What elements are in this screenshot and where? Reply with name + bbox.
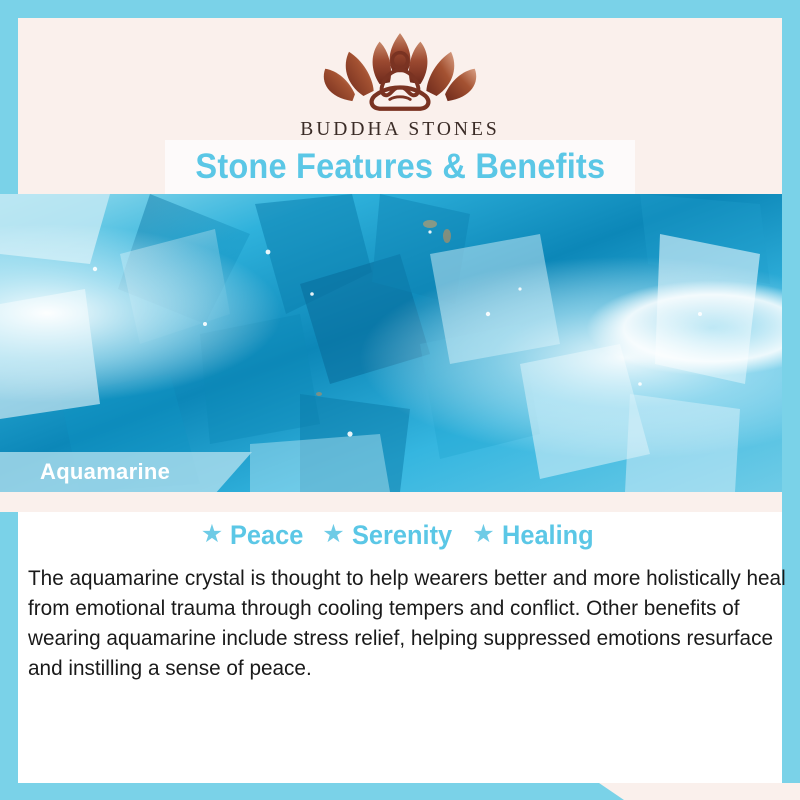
infographic-page: BUDDHA STONES Stone Features & Benefits [0, 0, 800, 800]
keyword-list: ★ Peace ★ Serenity ★ Healing [18, 520, 782, 551]
keyword-label: Healing [502, 520, 594, 551]
keyword-label: Peace [230, 520, 303, 551]
footer-blue-bar [0, 783, 624, 800]
keyword-item: ★ Peace [201, 520, 309, 551]
star-icon: ★ [472, 522, 494, 547]
title-banner: Stone Features & Benefits [165, 140, 635, 194]
brand-name: BUDDHA STONES [300, 119, 500, 141]
hero-image [0, 194, 782, 492]
cream-divider [0, 492, 782, 512]
star-icon: ★ [201, 522, 223, 547]
page-title: Stone Features & Benefits [195, 147, 605, 187]
description-text: The aquamarine crystal is thought to hel… [28, 563, 787, 683]
keyword-label: Serenity [352, 520, 452, 551]
star-icon: ★ [322, 522, 344, 547]
keyword-item: ★ Healing [472, 520, 599, 551]
stone-name-label: Aquamarine [40, 459, 170, 485]
brand-logo: BUDDHA STONES [18, 28, 782, 141]
keyword-item: ★ Serenity [322, 520, 458, 551]
lotus-meditation-icon [315, 28, 485, 114]
stone-name-ribbon: Aquamarine [0, 452, 252, 492]
content-card: ★ Peace ★ Serenity ★ Healing The aquamar… [18, 512, 782, 783]
